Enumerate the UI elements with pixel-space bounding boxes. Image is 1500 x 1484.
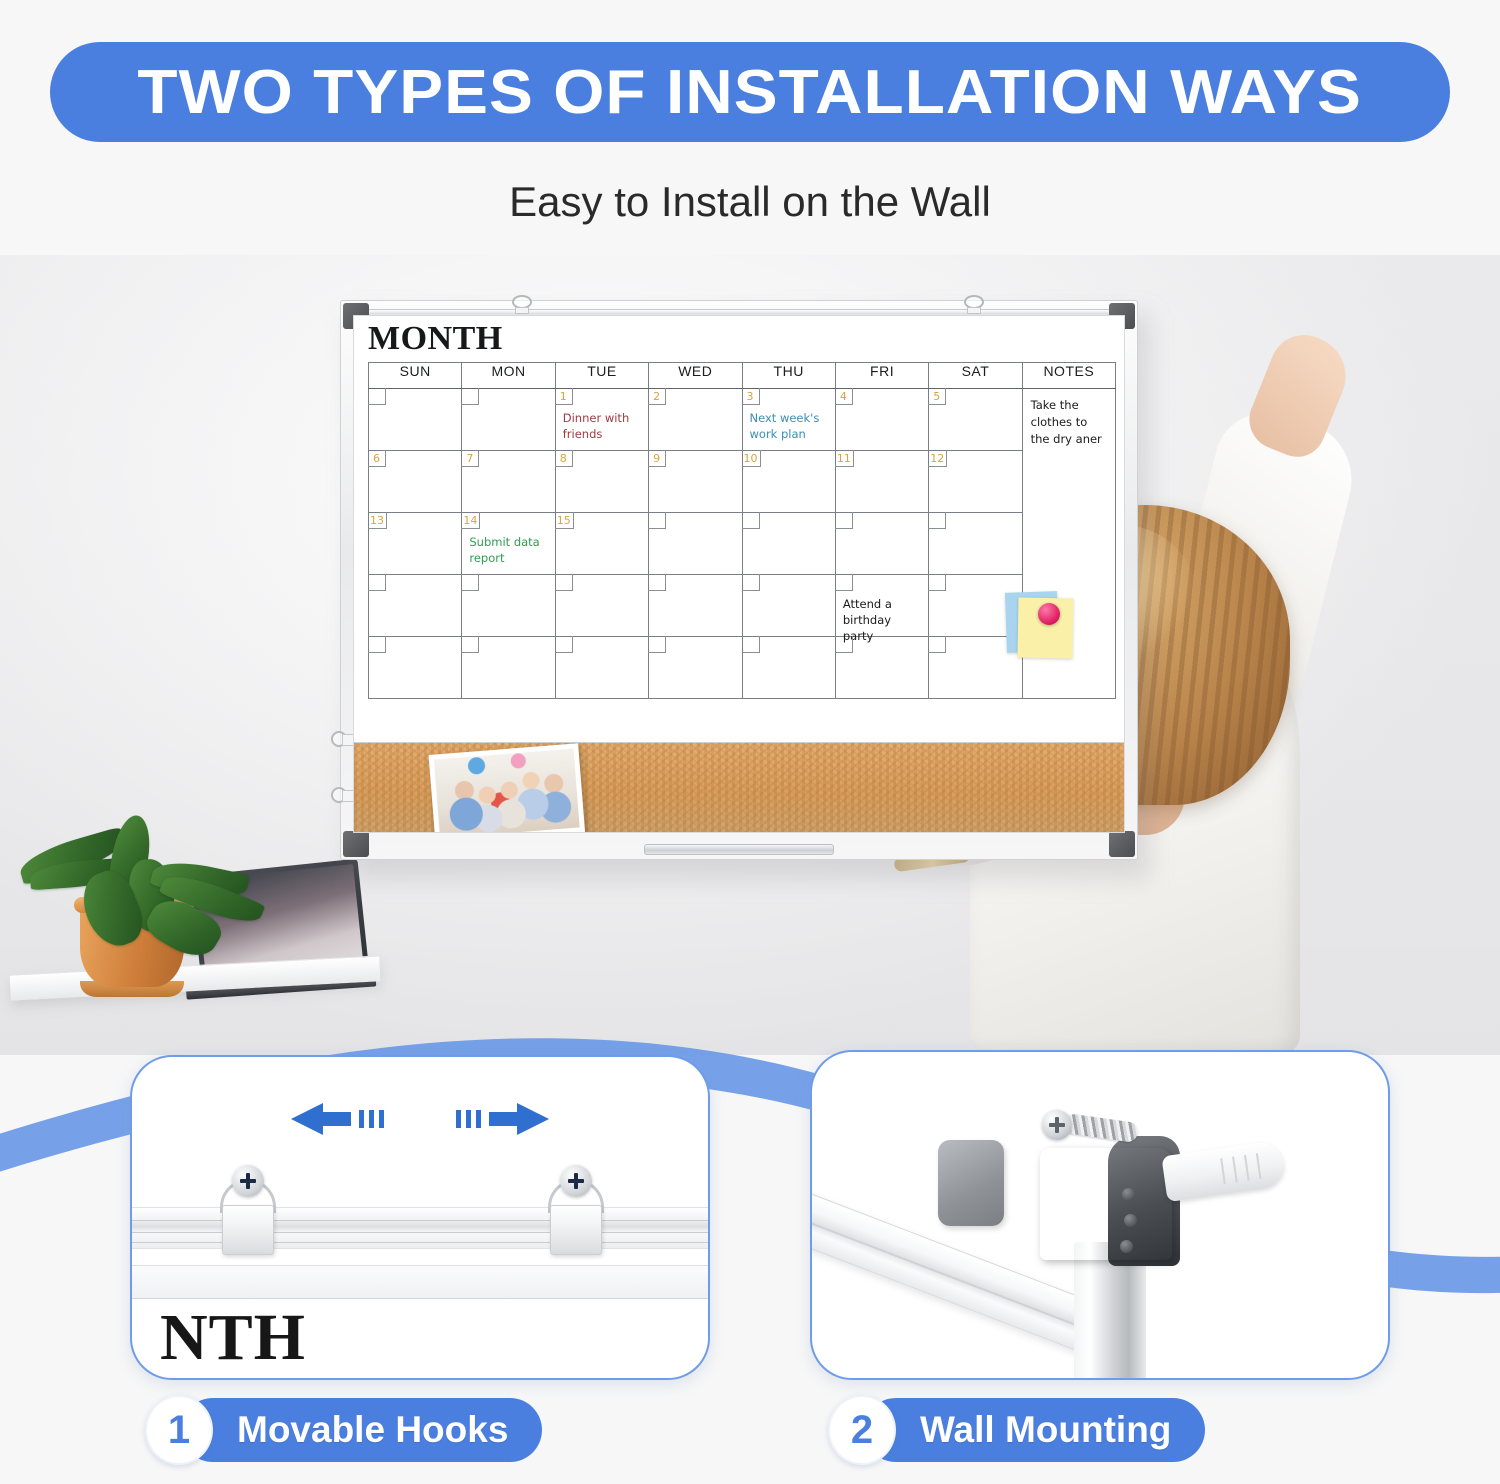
side-hook-icon[interactable] (331, 787, 353, 809)
calendar-day-number: 1 (555, 388, 573, 405)
calendar-grid: SUN MON TUE WED THU FRI SAT NOTES ..1Din… (368, 362, 1116, 699)
footer-step-number: 2 (828, 1395, 896, 1465)
calendar-day-number: 2 (648, 388, 666, 405)
wall-anchor-plate (938, 1140, 1004, 1226)
side-hook-icon[interactable] (331, 731, 353, 753)
footer-pill: Movable Hooks (181, 1398, 542, 1462)
calendar-day-cell[interactable]: . (649, 637, 742, 699)
calendar-title: MONTH (368, 322, 1116, 356)
calendar-week-row: 6789101112 (369, 451, 1116, 513)
calendar-day-cell[interactable]: 8 (555, 451, 648, 513)
calendar-column-header: WED (649, 363, 742, 389)
calendar-day-cell[interactable]: 14Submit data report (462, 513, 555, 575)
calendar-day-cell[interactable]: . (462, 637, 555, 699)
direction-arrows (132, 1099, 708, 1139)
corner-cap-bottom-left (343, 831, 369, 857)
calendar-day-cell[interactable]: . (369, 575, 462, 637)
calendar-day-number: . (461, 388, 479, 405)
whiteboard-frame: MONTH SUN MON TUE WED THU FRI SAT (340, 300, 1138, 860)
corner-bracket (1040, 1148, 1172, 1260)
calendar-day-cell[interactable]: 4 (835, 389, 928, 451)
calendar-column-header: MON (462, 363, 555, 389)
calendar-day-cell[interactable]: . (555, 637, 648, 699)
calendar-day-number: 5 (928, 388, 946, 405)
right-arrow-icon (439, 1102, 551, 1136)
calendar-day-cell[interactable]: 9 (649, 451, 742, 513)
partial-month-text: NTH (160, 1300, 306, 1376)
calendar-day-cell[interactable]: 10 (742, 451, 835, 513)
calendar-day-number: 9 (648, 450, 666, 467)
calendar-day-number: 10 (742, 450, 761, 467)
calendar-day-cell[interactable]: 7 (462, 451, 555, 513)
calendar-day-cell[interactable]: .Attend a birthday party (835, 575, 928, 637)
calendar-column-header: FRI (835, 363, 928, 389)
movable-hook[interactable] (542, 1165, 608, 1257)
calendar-column-header: SUN (369, 363, 462, 389)
photo-image (434, 749, 580, 833)
calendar-day-cell[interactable]: 5 (929, 389, 1022, 451)
spring-icon (1063, 1113, 1139, 1143)
calendar-day-cell[interactable]: . (742, 575, 835, 637)
bracket-hole (1120, 1240, 1133, 1253)
calendar-day-cell[interactable]: . (369, 389, 462, 451)
bracket-hole (1122, 1188, 1135, 1201)
calendar-day-number: . (461, 574, 479, 591)
calendar-day-number: . (461, 636, 479, 653)
aluminum-rail-lower (130, 1265, 710, 1299)
calendar-day-cell[interactable]: . (462, 575, 555, 637)
calendar-column-header: THU (742, 363, 835, 389)
calendar-day-number: . (742, 512, 760, 529)
calendar-day-cell[interactable]: . (649, 513, 742, 575)
calendar-day-cell[interactable]: 1Dinner with friends (555, 389, 648, 451)
calendar-day-number: . (555, 636, 573, 653)
marker-tray (644, 844, 834, 855)
calendar-day-number: . (742, 636, 760, 653)
screw-icon (232, 1165, 264, 1197)
calendar-day-number: . (368, 388, 386, 405)
cork-board (354, 742, 1124, 832)
calendar-day-cell[interactable]: 3Next week's work plan (742, 389, 835, 451)
calendar-column-header: TUE (555, 363, 648, 389)
calendar-day-cell[interactable]: 11 (835, 451, 928, 513)
calendar-day-number: . (648, 574, 666, 591)
calendar-day-cell[interactable]: 2 (649, 389, 742, 451)
corner-cap-bottom-right (1109, 831, 1135, 857)
calendar-week-row: ......Attend a birthday party. (369, 575, 1116, 637)
calendar-day-cell[interactable]: . (835, 637, 928, 699)
screw-icon (1042, 1110, 1072, 1140)
calendar-day-number: 12 (928, 450, 947, 467)
calendar-week-row: ....... (369, 637, 1116, 699)
calendar-day-number: 4 (835, 388, 853, 405)
calendar-day-number: . (742, 574, 760, 591)
calendar-week-row: ..1Dinner with friends23Next week's work… (369, 389, 1116, 451)
calendar-day-number: . (835, 574, 853, 591)
calendar-header-row: SUN MON TUE WED THU FRI SAT NOTES (369, 363, 1116, 389)
calendar-day-number: 6 (368, 450, 386, 467)
calendar-week-row: 1314Submit data report15.... (369, 513, 1116, 575)
pen-clip (1161, 1140, 1286, 1202)
calendar-notes-text: Take the clothes to the dry aner (1031, 397, 1109, 448)
hook-plate (222, 1205, 274, 1255)
calendar-day-cell[interactable]: . (835, 513, 928, 575)
bracket-hole (1124, 1214, 1137, 1227)
footer-label-text: Movable Hooks (237, 1409, 508, 1451)
calendar-day-number: . (648, 512, 666, 529)
calendar-day-cell[interactable]: 13 (369, 513, 462, 575)
panel-movable-hooks: NTH (130, 1055, 710, 1380)
calendar-day-number: 3 (742, 388, 760, 405)
calendar-day-number: . (928, 636, 946, 653)
calendar-column-header: SAT (929, 363, 1022, 389)
movable-hook[interactable] (214, 1165, 280, 1257)
sticky-note-group (1006, 590, 1086, 670)
calendar-day-cell[interactable]: . (369, 637, 462, 699)
footer-step-number: 1 (145, 1395, 213, 1465)
calendar-day-number: . (835, 512, 853, 529)
calendar-day-number: . (368, 636, 386, 653)
calendar-day-cell[interactable]: 12 (929, 451, 1022, 513)
calendar-day-note: Dinner with friends (563, 411, 644, 443)
calendar-day-number: . (648, 636, 666, 653)
hero-scene: MONTH SUN MON TUE WED THU FRI SAT (0, 255, 1500, 1055)
mounting-hook-icon[interactable] (961, 295, 987, 315)
calendar-day-number: 8 (555, 450, 573, 467)
hook-plate (550, 1205, 602, 1255)
calendar-planner: MONTH SUN MON TUE WED THU FRI SAT (354, 316, 1124, 754)
calendar-day-cell[interactable]: . (929, 513, 1022, 575)
page-title: TWO TYPES OF INSTALLATION WAYS (138, 57, 1363, 128)
whiteboard-surface: MONTH SUN MON TUE WED THU FRI SAT (353, 315, 1125, 833)
calendar-day-cell[interactable]: 6 (369, 451, 462, 513)
footer-label-text: Wall Mounting (920, 1409, 1171, 1451)
calendar-day-cell[interactable]: . (555, 575, 648, 637)
left-arrow-icon (289, 1102, 401, 1136)
pinned-photo (429, 743, 586, 833)
calendar-day-number: . (928, 512, 946, 529)
calendar-day-number: 11 (835, 450, 854, 467)
calendar-day-cell[interactable]: . (742, 513, 835, 575)
calendar-day-number: . (928, 574, 946, 591)
calendar-day-note: Submit data report (469, 535, 550, 567)
page-subtitle: Easy to Install on the Wall (0, 178, 1500, 226)
calendar-day-cell[interactable]: . (742, 637, 835, 699)
desk-area (0, 815, 380, 1055)
calendar-day-cell[interactable]: . (462, 389, 555, 451)
calendar-day-number: 7 (461, 450, 479, 467)
calendar-day-cell[interactable]: . (649, 575, 742, 637)
footer-pill: Wall Mounting (864, 1398, 1205, 1462)
magnet-icon (1038, 603, 1060, 625)
calendar-day-number: 15 (555, 512, 574, 529)
calendar-day-number: 14 (461, 512, 480, 529)
mounting-hook-icon[interactable] (509, 295, 535, 315)
calendar-body: ..1Dinner with friends23Next week's work… (369, 389, 1116, 699)
whiteboard: MONTH SUN MON TUE WED THU FRI SAT (340, 300, 1150, 875)
calendar-column-header: NOTES (1022, 363, 1115, 389)
screw-icon (560, 1165, 592, 1197)
calendar-day-number: 13 (368, 512, 387, 529)
header-banner: TWO TYPES OF INSTALLATION WAYS (50, 42, 1450, 142)
panel-wall-mounting (810, 1050, 1390, 1380)
calendar-day-number: . (555, 574, 573, 591)
calendar-day-number: . (835, 636, 853, 653)
calendar-day-note: Next week's work plan (750, 411, 831, 443)
calendar-day-cell[interactable]: 15 (555, 513, 648, 575)
calendar-day-number: . (368, 574, 386, 591)
